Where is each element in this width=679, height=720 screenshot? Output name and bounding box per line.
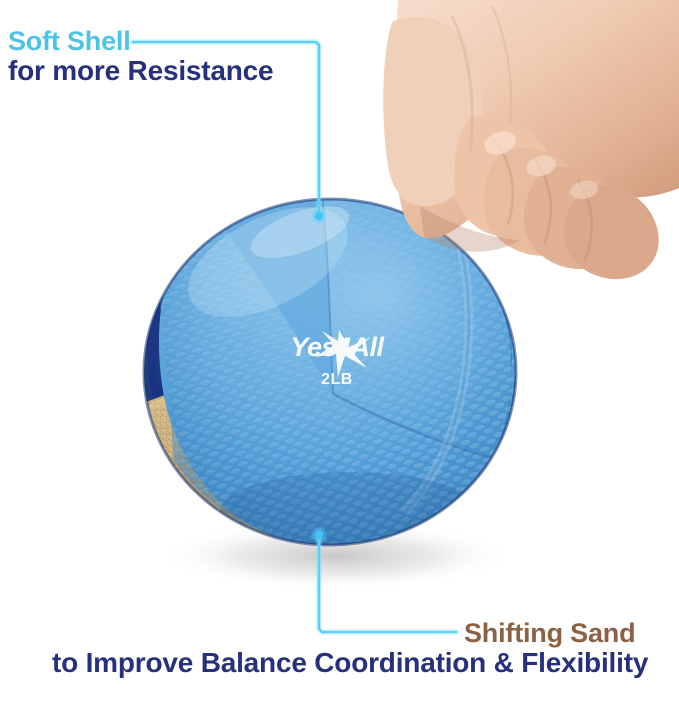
callout-subtitle-shifting-sand: to Improve Balance Coordination & Flexib… xyxy=(52,648,648,677)
hand-gripping-ball xyxy=(383,0,679,279)
product-illustration: Yes4All 2LB xyxy=(0,0,679,720)
weight-label: 2LB xyxy=(321,371,353,388)
callout-subtitle-soft-shell: for more Resistance xyxy=(8,56,273,85)
product-photo: Yes4All 2LB xyxy=(0,0,679,720)
product-image-canvas: Yes4All 2LB xyxy=(0,0,679,720)
callout-title-soft-shell: Soft Shell xyxy=(8,27,131,55)
callout-title-shifting-sand: Shifting Sand xyxy=(464,619,635,647)
